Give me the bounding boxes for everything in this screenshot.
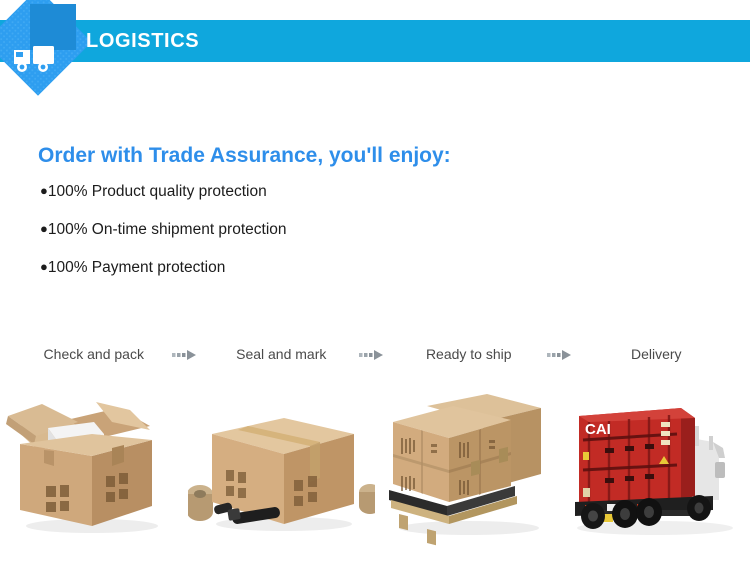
headline: Order with Trade Assurance, you'll enjoy… bbox=[38, 144, 451, 168]
bullet-marker: ● bbox=[40, 221, 48, 236]
process-step-1: Check and pack bbox=[0, 346, 188, 362]
benefits-list: ●100% Product quality protection ●100% O… bbox=[40, 183, 460, 297]
illustration-delivery: CAI bbox=[563, 378, 750, 548]
step-label: Seal and mark bbox=[236, 346, 326, 362]
process-step-4: Delivery bbox=[563, 346, 750, 362]
process-step-3: Ready to ship bbox=[375, 346, 563, 362]
illustration-ready-to-ship bbox=[375, 378, 563, 548]
step-label: Delivery bbox=[631, 346, 682, 362]
boxes-on-pallet-icon bbox=[375, 378, 562, 548]
page-title: LOGISTICS bbox=[86, 20, 199, 62]
list-item-label: 100% Payment protection bbox=[48, 259, 226, 276]
logistics-infographic: LOGISTICS Order with Trade Assurance, yo… bbox=[0, 0, 750, 582]
list-item-label: 100% On-time shipment protection bbox=[48, 221, 287, 238]
process-illustrations: CAI bbox=[0, 378, 750, 548]
list-item: ●100% On-time shipment protection bbox=[40, 221, 460, 239]
list-item: ●100% Product quality protection bbox=[40, 183, 460, 201]
step-label: Check and pack bbox=[44, 346, 144, 362]
list-item-label: 100% Product quality protection bbox=[48, 183, 267, 200]
illustration-check-and-pack bbox=[0, 378, 188, 548]
bullet-marker: ● bbox=[40, 259, 48, 274]
sealed-box-with-tape-and-marker-icon bbox=[188, 378, 375, 548]
bullet-marker: ● bbox=[40, 183, 48, 198]
illustration-seal-and-mark bbox=[188, 378, 376, 548]
truck-icon bbox=[12, 44, 58, 74]
container-truck-icon: CAI bbox=[563, 378, 750, 548]
process-step-2: Seal and mark bbox=[188, 346, 376, 362]
step-label: Ready to ship bbox=[426, 346, 512, 362]
open-cardboard-box-icon bbox=[0, 378, 187, 548]
container-marking: CAI bbox=[585, 421, 611, 438]
list-item: ●100% Payment protection bbox=[40, 259, 460, 277]
process-step-labels: Check and pack Seal and mark Ready to sh… bbox=[0, 346, 750, 362]
